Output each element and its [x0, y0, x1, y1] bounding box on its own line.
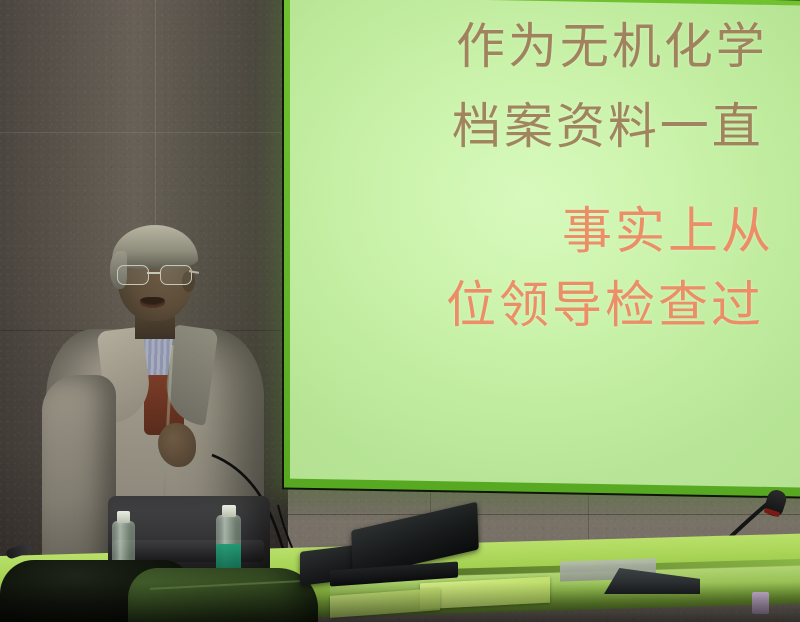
laptop-bag-green [128, 568, 318, 622]
slide-line-2: 档案资料一直 [452, 87, 764, 158]
eyeglasses-lens-right [160, 265, 192, 285]
presentation-photo: 作为无机化学 档案资料一直 事实上从 位领导检查过 [0, 0, 800, 622]
water-bottle-left-body [112, 521, 135, 563]
water-bottle-right-label [216, 544, 241, 569]
water-bottle-left[interactable] [112, 511, 135, 563]
presenter-hand-upper [158, 423, 196, 467]
presenter-mouth [140, 297, 165, 308]
desk-small-object [752, 592, 769, 614]
water-bottle-right[interactable] [216, 505, 241, 571]
eyeglasses-bridge [147, 272, 160, 274]
projection-screen: 作为无机化学 档案资料一直 事实上从 位领导检查过 [282, 0, 800, 499]
slide-line-3: 事实上从 [562, 191, 774, 263]
water-bottle-left-cap [117, 511, 130, 523]
screen-surface: 作为无机化学 档案资料一直 事实上从 位领导检查过 [290, 0, 800, 488]
eyeglasses-lens-left [117, 265, 149, 285]
slide-text-block: 作为无机化学 档案资料一直 事实上从 位领导检查过 [290, 1, 800, 483]
screen-glow-edge: 作为无机化学 档案资料一直 事实上从 位领导检查过 [284, 0, 800, 497]
water-bottle-right-cap [222, 505, 236, 517]
eyeglasses-icon [116, 265, 196, 284]
wall-seam-right-1 [288, 514, 800, 515]
slide-line-1: 作为无机化学 [456, 7, 768, 78]
wall-seam-horizontal [0, 132, 300, 133]
slide-line-4: 位领导检查过 [446, 265, 764, 337]
